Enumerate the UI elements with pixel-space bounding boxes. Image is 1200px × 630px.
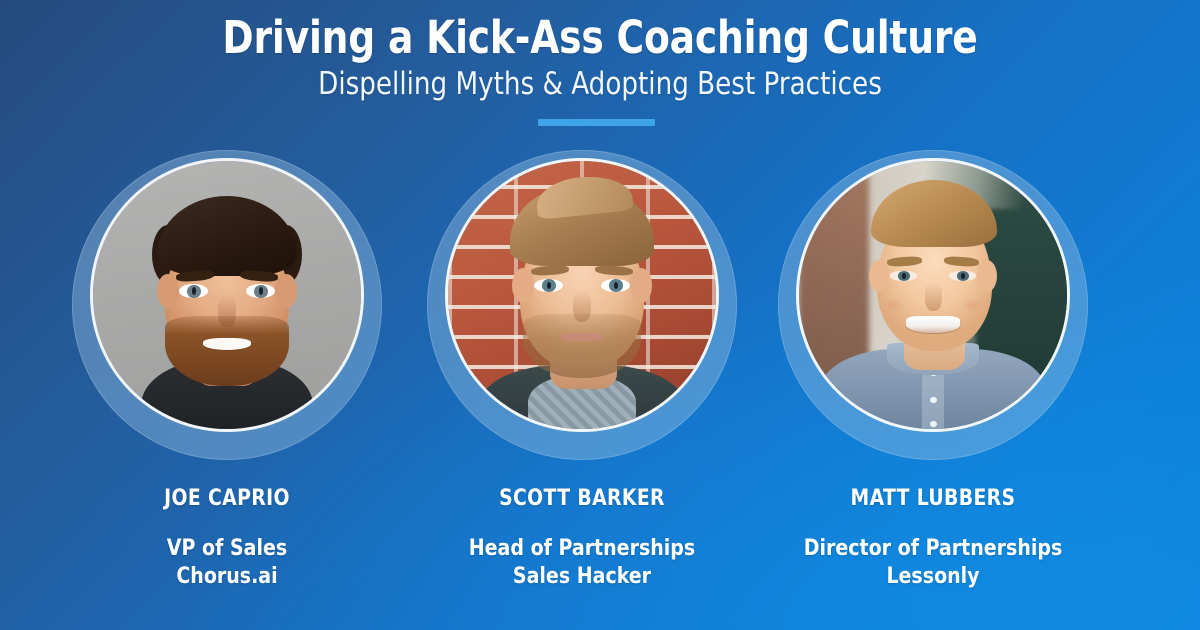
speaker-job-title: Head of Partnerships (424, 535, 741, 563)
speaker-job-title: Director of Partnerships (775, 535, 1092, 563)
portrait-illustration (799, 161, 1067, 429)
portrait-illustration (448, 161, 716, 429)
speaker-company: Chorus.ai (69, 563, 386, 591)
header: Driving a Kick-Ass Coaching Culture Disp… (0, 0, 1200, 101)
webinar-promo-slide: Driving a Kick-Ass Coaching Culture Disp… (0, 0, 1200, 630)
avatar (448, 161, 716, 429)
avatar-ring (427, 150, 737, 460)
speaker-company: Sales Hacker (424, 563, 741, 591)
page-subtitle: Dispelling Myths & Adopting Best Practic… (36, 67, 1164, 101)
speaker-role: Director of Partnerships Lessonly (775, 535, 1092, 590)
speaker-name: JOE CAPRIO (70, 486, 384, 511)
speaker-job-title: VP of Sales (69, 535, 386, 563)
title-divider (538, 119, 655, 126)
portrait-illustration (93, 161, 361, 429)
avatar-ring (778, 150, 1088, 460)
speaker-card-joe-caprio: JOE CAPRIO VP of Sales Chorus.ai (62, 150, 392, 590)
speaker-list: JOE CAPRIO VP of Sales Chorus.ai (0, 150, 1200, 620)
avatar-ring (72, 150, 382, 460)
speaker-name: SCOTT BARKER (425, 486, 739, 511)
avatar (93, 161, 361, 429)
speaker-card-matt-lubbers: MATT LUBBERS Director of Partnerships Le… (768, 150, 1098, 590)
speaker-company: Lessonly (775, 563, 1092, 591)
page-title: Driving a Kick-Ass Coaching Culture (42, 0, 1158, 61)
speaker-name: MATT LUBBERS (776, 486, 1090, 511)
avatar (799, 161, 1067, 429)
speaker-card-scott-barker: SCOTT BARKER Head of Partnerships Sales … (417, 150, 747, 590)
speaker-role: Head of Partnerships Sales Hacker (424, 535, 741, 590)
speaker-role: VP of Sales Chorus.ai (69, 535, 386, 590)
